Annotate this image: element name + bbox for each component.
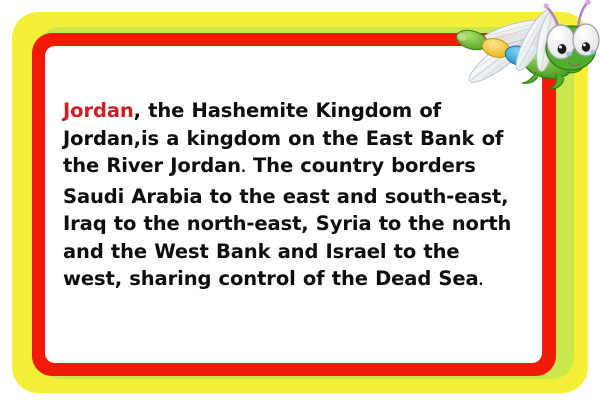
- slide-canvas: Jordan, the Hashemite Kingdom of Jordan,…: [0, 0, 600, 405]
- fact-paragraph: Jordan, the Hashemite Kingdom of Jordan,…: [63, 97, 533, 296]
- final-period: .: [479, 274, 484, 289]
- highlight-word: Jordan: [63, 99, 134, 122]
